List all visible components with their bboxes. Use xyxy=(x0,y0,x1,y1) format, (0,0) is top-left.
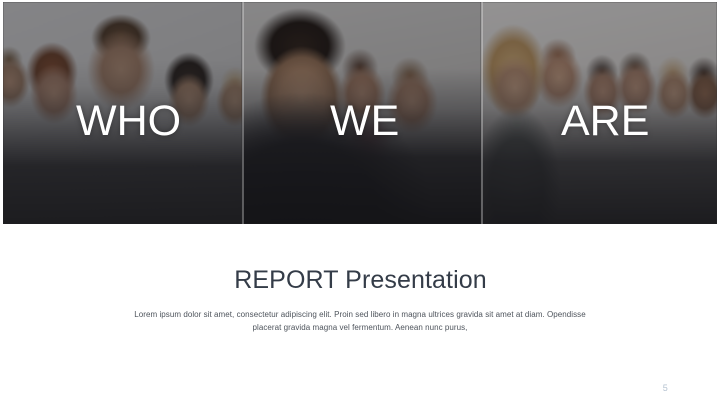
slide-content-area: REPORT Presentation Lorem ipsum dolor si… xyxy=(0,224,721,405)
page-number: 5 xyxy=(663,383,668,393)
hero-word-who: WHO xyxy=(76,100,181,143)
hero-image-band: WHO WE ARE xyxy=(3,2,717,224)
slide-title: REPORT Presentation xyxy=(0,266,721,295)
hero-word-are: ARE xyxy=(561,100,649,143)
hero-word-we: WE xyxy=(330,100,399,143)
slide-body-text: Lorem ipsum dolor sit amet, consectetur … xyxy=(130,309,590,334)
panel-divider-right xyxy=(481,2,483,224)
panel-divider-left xyxy=(242,2,244,224)
